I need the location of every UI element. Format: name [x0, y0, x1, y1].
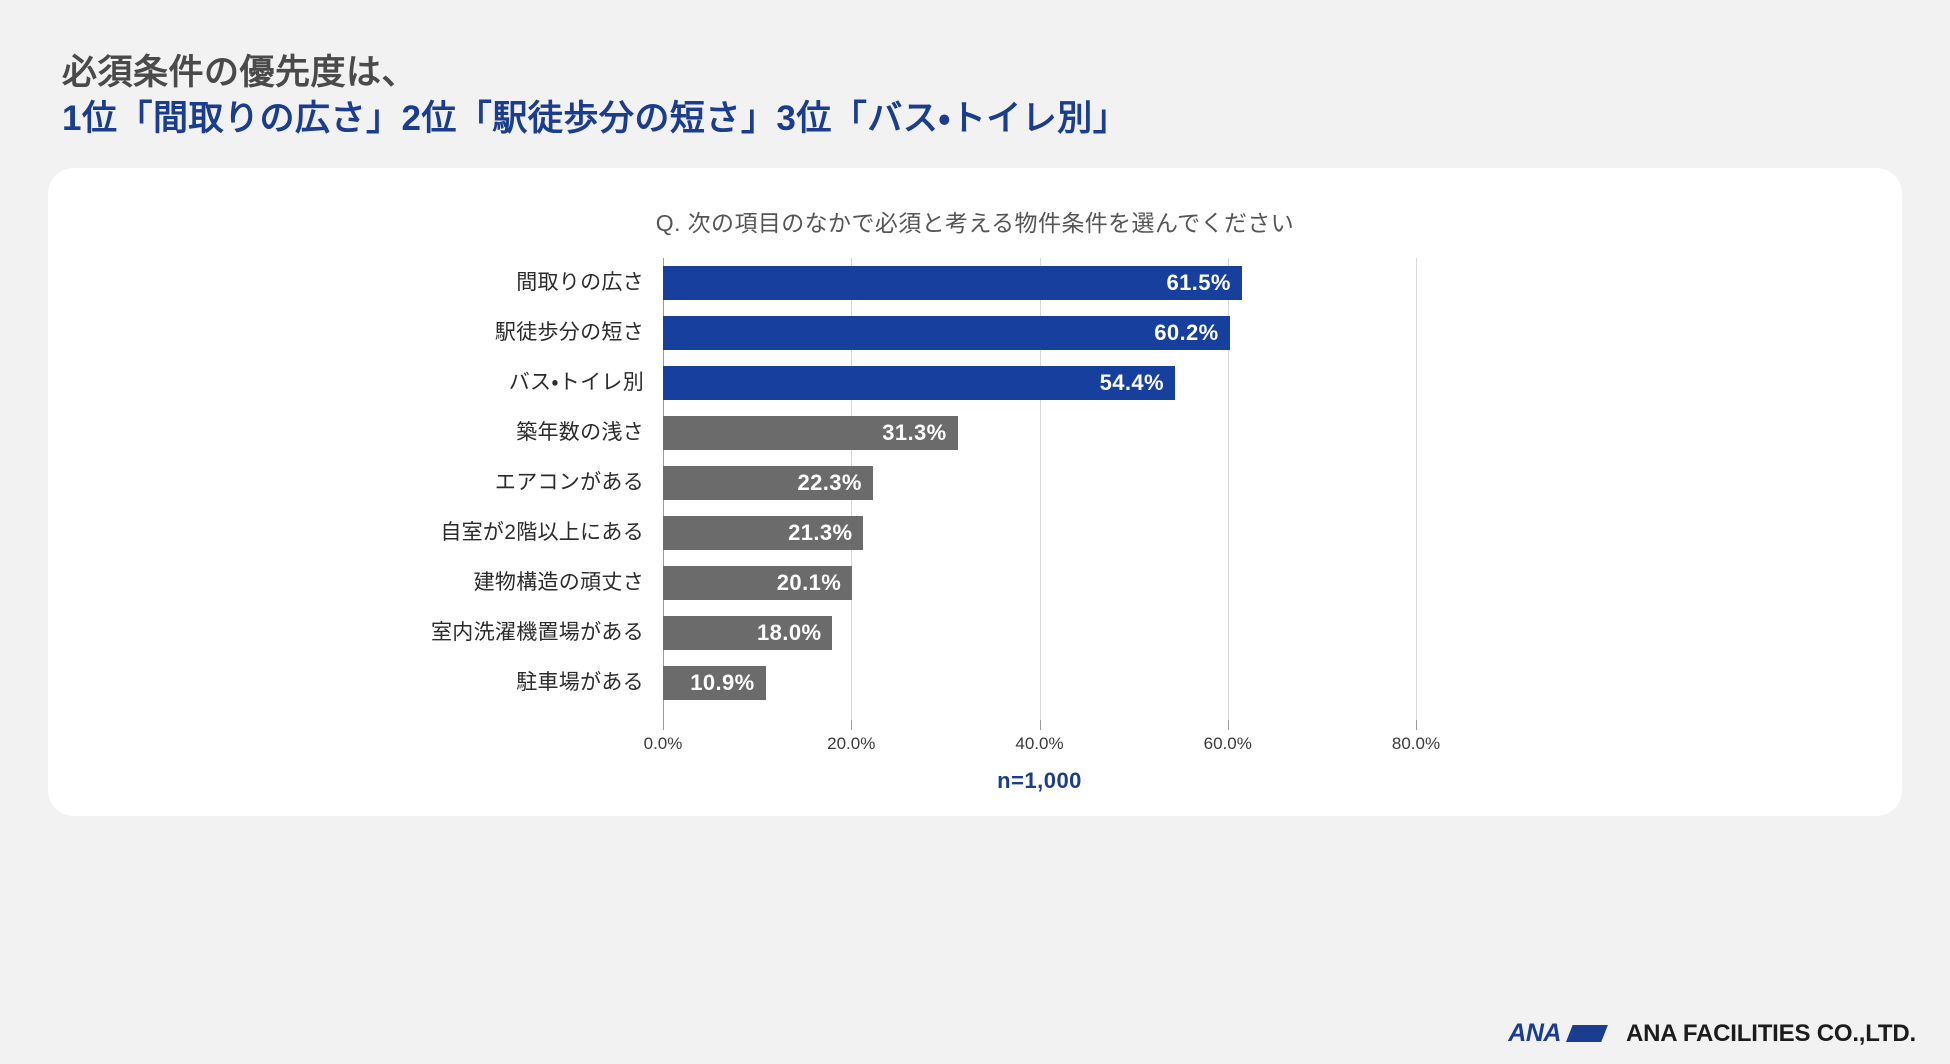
category-label: 間取りの広さ: [516, 258, 644, 308]
x-tick-label: 40.0%: [1015, 734, 1063, 754]
category-label: 駐車場がある: [516, 658, 644, 708]
bar-value-label: 61.5%: [1166, 270, 1241, 296]
bar: 31.3%: [663, 416, 958, 450]
bar: 61.5%: [663, 266, 1242, 300]
bar: 21.3%: [663, 516, 863, 550]
category-label: バス・トイレ別: [509, 358, 644, 408]
bar-value-label: 54.4%: [1100, 370, 1175, 396]
page-headline: 必須条件の優先度は、 1位「間取りの広さ」2位「駅徒歩分の短さ」3位「バス・トイ…: [62, 50, 1128, 142]
gridline-800pct: [1416, 258, 1417, 720]
chart-row: 駅徒歩分の短さ60.2%: [663, 308, 1416, 358]
bar-value-label: 10.9%: [690, 670, 765, 696]
category-label: 自室が2階以上にある: [440, 508, 644, 558]
category-label: 駅徒歩分の短さ: [495, 308, 644, 358]
bar-value-label: 18.0%: [757, 620, 832, 646]
chart-plot-area: 間取りの広さ61.5%駅徒歩分の短さ60.2%バス・トイレ別54.4%築年数の浅…: [663, 258, 1416, 720]
bar-value-label: 31.3%: [882, 420, 957, 446]
bar-value-label: 20.1%: [777, 570, 852, 596]
bar: 54.4%: [663, 366, 1175, 400]
chart-bars: 間取りの広さ61.5%駅徒歩分の短さ60.2%バス・トイレ別54.4%築年数の浅…: [663, 258, 1416, 720]
sample-size-label: n=1,000: [663, 768, 1416, 794]
bar: 22.3%: [663, 466, 873, 500]
chart-card: Q. 次の項目のなかで必須と考える物件条件を選んでください 間取りの広さ61.5…: [48, 168, 1902, 816]
x-tick-mark: [851, 720, 852, 730]
bar: 60.2%: [663, 316, 1230, 350]
chart-row: 駐車場がある10.9%: [663, 658, 1416, 708]
ana-swoosh-icon: [1566, 1025, 1608, 1042]
chart-x-axis: 0.0%20.0%40.0%60.0%80.0%: [663, 720, 1416, 764]
ana-logo-wordmark: ANA: [1508, 1019, 1561, 1048]
company-name: ANA FACILITIES CO.,LTD.: [1626, 1020, 1916, 1048]
category-label: エアコンがある: [495, 458, 644, 508]
chart-row: 建物構造の頑丈さ20.1%: [663, 558, 1416, 608]
chart-row: エアコンがある22.3%: [663, 458, 1416, 508]
chart-row: 自室が2階以上にある21.3%: [663, 508, 1416, 558]
chart-row: 間取りの広さ61.5%: [663, 258, 1416, 308]
x-tick-label: 0.0%: [644, 734, 683, 754]
bar-value-label: 22.3%: [798, 470, 873, 496]
category-label: 築年数の浅さ: [516, 408, 644, 458]
headline-line-2: 1位「間取りの広さ」2位「駅徒歩分の短さ」3位「バス・トイレ別」: [62, 96, 1128, 142]
category-label: 建物構造の頑丈さ: [474, 558, 644, 608]
bar-value-label: 60.2%: [1154, 320, 1229, 346]
x-tick-mark: [1228, 720, 1229, 730]
x-tick-mark: [663, 720, 664, 730]
bar: 18.0%: [663, 616, 832, 650]
category-label: 室内洗濯機置場がある: [431, 608, 644, 658]
x-tick-label: 60.0%: [1204, 734, 1252, 754]
bar: 20.1%: [663, 566, 852, 600]
x-tick-label: 20.0%: [827, 734, 875, 754]
chart-title: Q. 次の項目のなかで必須と考える物件条件を選んでください: [48, 204, 1902, 238]
chart-row: 築年数の浅さ31.3%: [663, 408, 1416, 458]
bar-value-label: 21.3%: [788, 520, 863, 546]
x-tick-mark: [1040, 720, 1041, 730]
x-tick-mark: [1416, 720, 1417, 730]
x-tick-label: 80.0%: [1392, 734, 1440, 754]
chart-row: バス・トイレ別54.4%: [663, 358, 1416, 408]
ana-logo-mark: ANA: [1508, 1019, 1608, 1048]
bar: 10.9%: [663, 666, 766, 700]
headline-line-1: 必須条件の優先度は、: [62, 50, 1128, 96]
footer-logo: ANA ANA FACILITIES CO.,LTD.: [1508, 1019, 1916, 1048]
chart-row: 室内洗濯機置場がある18.0%: [663, 608, 1416, 658]
